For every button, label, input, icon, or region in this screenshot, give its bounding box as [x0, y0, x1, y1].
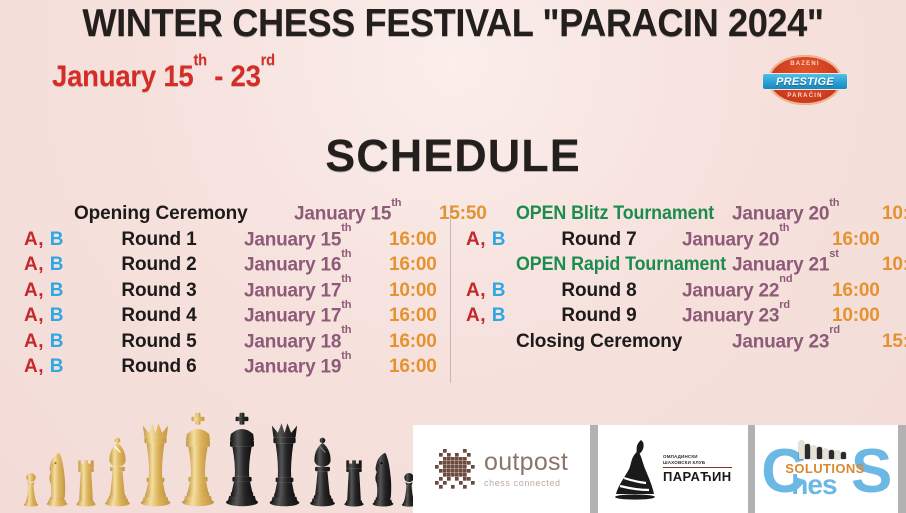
event-date-ordinal: th — [341, 324, 351, 336]
outpost-logo: outpost chess connected — [435, 449, 568, 489]
event-name: Round 8 — [516, 280, 682, 302]
schedule-row: OPEN Rapid TournamentJanuary 21st10:00 — [466, 254, 906, 280]
event-name: OPEN Rapid Tournament — [516, 254, 719, 276]
event-date-text: January 16 — [244, 254, 341, 275]
group-a-label: A, — [466, 305, 486, 326]
event-name: Round 9 — [516, 305, 682, 327]
event-date: January 20th — [732, 203, 882, 225]
event-date-ordinal: th — [829, 197, 839, 209]
event-time: 16:00 — [832, 280, 880, 302]
event-name: Round 4 — [74, 305, 244, 327]
date-range: January 15th - 23rd — [52, 60, 275, 94]
mini-chess-piece-icon — [823, 449, 828, 459]
event-time: 16:00 — [389, 305, 437, 327]
paracin-chess-club-logo: ОМЛАДИНСКИ ШАХОВСКИ КЛУБ ПАРАЋИН — [614, 438, 732, 500]
black-king-icon — [222, 412, 262, 507]
chess-solutions-logo: C S SOLUTIONS hes — [759, 435, 894, 503]
paracin-text-block: ОМЛАДИНСКИ ШАХОВСКИ КЛУБ ПАРАЋИН — [663, 454, 732, 484]
event-name: Closing Ceremony — [516, 331, 732, 353]
page-title: WINTER CHESS FESTIVAL "PARACIN 2024" — [32, 2, 875, 46]
event-date: January 20th — [682, 229, 832, 251]
prestige-top-text: BAZENI — [768, 61, 842, 67]
white-bishop-icon — [102, 433, 133, 507]
event-date-ordinal: th — [341, 222, 351, 234]
event-time: 10:00 — [389, 280, 437, 302]
group-b-label: B — [492, 280, 506, 301]
group-a-label: A, — [466, 280, 486, 301]
white-pawn-icon — [22, 465, 40, 507]
group-a-label: A, — [24, 280, 44, 301]
schedule-row: A, BRound 8January 22nd16:00 — [466, 280, 906, 306]
date-range-start: January 15 — [52, 60, 193, 93]
schedule-table: Opening CeremonyJanuary 15th15:50A, BRou… — [0, 203, 906, 388]
event-date: January 19th — [244, 356, 389, 378]
event-time: 15:00 — [882, 331, 906, 353]
logo-separator-3 — [898, 425, 906, 513]
group-a-label: A, — [24, 254, 44, 275]
chess-solutions-pieces-icon — [799, 439, 846, 459]
black-knight-icon — [370, 445, 396, 507]
prestige-wordmark: PRESTIGE — [776, 76, 834, 88]
paracin-line2: ШАХОВСКИ КЛУБ — [663, 460, 732, 466]
event-date-text: January 22 — [682, 280, 779, 301]
event-name: Round 6 — [74, 356, 244, 378]
event-date-text: January 17 — [244, 305, 341, 326]
black-queen-icon — [266, 419, 303, 507]
outpost-tagline: chess connected — [484, 478, 568, 488]
schedule-row: A, BRound 6January 19th16:00 — [24, 356, 452, 382]
schedule-row: OPEN Blitz TournamentJanuary 20th10:00 — [466, 203, 906, 229]
white-king-icon — [178, 412, 218, 507]
group-b-label: B — [50, 356, 64, 377]
event-name: Round 3 — [74, 280, 244, 302]
schedule-row: A, BRound 5January 18th16:00 — [24, 331, 452, 357]
event-time: 10:00 — [882, 254, 906, 276]
paracin-wordmark: ПАРАЋИН — [663, 467, 732, 484]
event-date-ordinal: th — [341, 273, 351, 285]
schedule-row: A, BRound 4January 17th16:00 — [24, 305, 452, 331]
group-labels: A, B — [24, 356, 74, 378]
prestige-band: PRESTIGE — [762, 73, 848, 90]
group-labels: A, B — [24, 331, 74, 353]
group-b-label: B — [50, 305, 64, 326]
event-date: January 16th — [244, 254, 389, 276]
mini-chess-piece-icon — [805, 444, 810, 459]
chess-solutions-hes-text: hes — [791, 469, 836, 501]
event-date-text: January 15 — [244, 229, 341, 250]
event-name: Round 2 — [74, 254, 244, 276]
group-b-label: B — [50, 331, 64, 352]
group-b-label: B — [492, 229, 506, 250]
chess-solutions-logo-card: C S SOLUTIONS hes — [755, 425, 898, 513]
schedule-row: A, BRound 3January 17th10:00 — [24, 280, 452, 306]
event-date-text: January 17 — [244, 280, 341, 301]
schedule-column-right: OPEN Blitz TournamentJanuary 20th10:00A,… — [452, 203, 906, 388]
outpost-wordmark: outpost — [484, 450, 568, 475]
group-b-label: B — [50, 254, 64, 275]
group-labels: A, B — [24, 229, 74, 251]
group-b-label: B — [50, 229, 64, 250]
event-date-text: January 23 — [682, 305, 779, 326]
event-date-ordinal: th — [341, 299, 351, 311]
event-date: January 17th — [244, 305, 389, 327]
schedule-row: A, BRound 2January 16th16:00 — [24, 254, 452, 280]
mini-chess-piece-icon — [811, 446, 816, 459]
sponsor-logo-strip: outpost chess connected ОМЛАДИНСКИ ШАХОВ… — [413, 425, 906, 513]
event-date: January 15th — [294, 203, 439, 225]
event-name: Round 7 — [516, 229, 682, 251]
group-b-label: B — [492, 305, 506, 326]
date-range-end-ordinal: rd — [261, 52, 275, 69]
event-time: 16:00 — [389, 229, 437, 251]
group-a-label: A, — [24, 305, 44, 326]
event-time: 16:00 — [389, 331, 437, 353]
outpost-logo-card: outpost chess connected — [413, 425, 590, 513]
group-a-label: A, — [24, 331, 44, 352]
event-date-text: January 19 — [244, 356, 341, 377]
paracin-club-logo-card: ОМЛАДИНСКИ ШАХОВСКИ КЛУБ ПАРАЋИН — [598, 425, 748, 513]
outpost-mark-icon — [435, 449, 475, 489]
schedule-row: A, BRound 1January 15th16:00 — [24, 229, 452, 255]
black-rook-icon — [342, 451, 366, 507]
schedule-row: A, BRound 9January 23rd10:00 — [466, 305, 906, 331]
event-date-ordinal: th — [341, 350, 351, 362]
event-name: Round 1 — [74, 229, 244, 251]
event-date-ordinal: rd — [829, 324, 840, 336]
event-name: Round 5 — [74, 331, 244, 353]
schedule-row: Closing CeremonyJanuary 23rd15:00 — [466, 331, 906, 357]
group-a-label: A, — [24, 229, 44, 250]
black-bishop-icon — [307, 433, 338, 507]
event-date-ordinal: nd — [779, 273, 792, 285]
event-date: January 22nd — [682, 280, 832, 302]
group-labels: A, B — [466, 229, 516, 251]
group-a-label: A, — [24, 356, 44, 377]
event-date: January 18th — [244, 331, 389, 353]
logo-separator-2 — [748, 425, 756, 513]
event-date: January 17th — [244, 280, 389, 302]
schedule-row: A, BRound 7January 20th16:00 — [466, 229, 906, 255]
prestige-logo: BAZENI PARAĆIN PRESTIGE — [762, 55, 848, 105]
schedule-column-left: Opening CeremonyJanuary 15th15:50A, BRou… — [0, 203, 452, 388]
group-a-label: A, — [466, 229, 486, 250]
group-labels: A, B — [24, 280, 74, 302]
event-time: 16:00 — [389, 356, 437, 378]
white-queen-icon — [137, 419, 174, 507]
event-date-ordinal: st — [829, 248, 838, 260]
group-b-label: B — [50, 280, 64, 301]
mini-chess-piece-icon — [835, 451, 840, 459]
event-date-text: January 23 — [732, 331, 829, 352]
date-range-sep: - 23 — [207, 60, 261, 93]
mini-chess-piece-icon — [817, 447, 822, 459]
white-rook-icon — [74, 451, 98, 507]
event-date: January 23rd — [732, 331, 882, 353]
event-date: January 15th — [244, 229, 389, 251]
event-time: 16:00 — [832, 229, 880, 251]
event-time: 16:00 — [389, 254, 437, 276]
mini-chess-piece-icon — [829, 450, 834, 459]
event-name: OPEN Blitz Tournament — [516, 203, 719, 225]
paracin-flame-icon — [614, 438, 658, 500]
event-date: January 23rd — [682, 305, 832, 327]
date-range-start-ordinal: th — [193, 52, 206, 69]
group-labels: A, B — [24, 305, 74, 327]
white-knight-icon — [44, 445, 70, 507]
schedule-heading: SCHEDULE — [0, 130, 906, 182]
group-labels: A, B — [466, 305, 516, 327]
event-date-text: January 20 — [682, 229, 779, 250]
group-labels: A, B — [466, 280, 516, 302]
event-date: January 21st — [732, 254, 882, 276]
poster-canvas: WINTER CHESS FESTIVAL "PARACIN 2024" Jan… — [0, 0, 906, 513]
event-time: 10:00 — [882, 203, 906, 225]
logo-separator-1 — [590, 425, 598, 513]
event-date-ordinal: th — [391, 197, 401, 209]
prestige-bottom-text: PARAĆIN — [768, 93, 842, 99]
mini-chess-piece-icon — [799, 441, 804, 459]
event-date-ordinal: rd — [779, 299, 790, 311]
event-date-ordinal: th — [341, 248, 351, 260]
schedule-row: Opening CeremonyJanuary 15th15:50 — [24, 203, 452, 229]
mini-chess-piece-icon — [841, 452, 846, 459]
event-date-ordinal: th — [779, 222, 789, 234]
group-labels: A, B — [24, 254, 74, 276]
event-name: Opening Ceremony — [74, 203, 294, 225]
event-date-text: January 18 — [244, 331, 341, 352]
chess-piece-row — [22, 402, 414, 507]
outpost-text: outpost chess connected — [484, 450, 568, 488]
